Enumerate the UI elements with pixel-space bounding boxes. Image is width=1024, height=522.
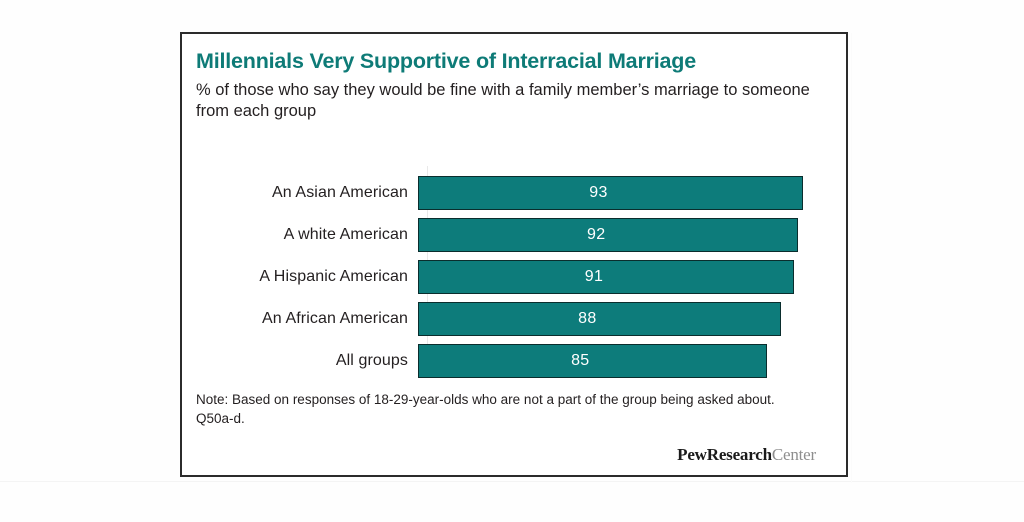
bar-row: A Hispanic American 91 — [196, 260, 832, 294]
bar-chart-plot-area: An Asian American 93 A white American 92… — [196, 166, 832, 361]
bar-track: 93 — [418, 176, 832, 210]
bar-value-label: 85 — [571, 352, 589, 370]
bar-category-label: A white American — [196, 226, 418, 244]
chart-note: Note: Based on responses of 18-29-year-o… — [196, 391, 810, 428]
bar-track: 92 — [418, 218, 832, 252]
bar-track: 91 — [418, 260, 832, 294]
page-edge-line-bottom — [0, 481, 1024, 482]
bar-a-white-american: 92 — [418, 218, 798, 252]
chart-inner-content: Millennials Very Supportive of Interraci… — [196, 50, 832, 465]
source-logo-row: PewResearchCenter — [677, 445, 816, 465]
chart-frame: Millennials Very Supportive of Interraci… — [180, 32, 848, 477]
bar-value-label: 91 — [585, 268, 603, 286]
bar-row: A white American 92 — [196, 218, 832, 252]
chart-title: Millennials Very Supportive of Interraci… — [196, 50, 832, 74]
bar-category-label: A Hispanic American — [196, 268, 418, 286]
bar-row: An Asian American 93 — [196, 176, 832, 210]
logo-bold-text: PewResearch — [677, 445, 772, 464]
bar-value-label: 88 — [578, 310, 596, 328]
bar-category-label: An African American — [196, 310, 418, 328]
logo-light-text: Center — [772, 445, 816, 464]
bar-category-label: All groups — [196, 352, 418, 370]
bar-all-groups: 85 — [418, 344, 767, 378]
bar-an-asian-american: 93 — [418, 176, 803, 210]
bar-row: All groups 85 — [196, 344, 832, 378]
bar-track: 85 — [418, 344, 832, 378]
bar-row: An African American 88 — [196, 302, 832, 336]
bar-category-label: An Asian American — [196, 184, 418, 202]
bar-track: 88 — [418, 302, 832, 336]
chart-subtitle: % of those who say they would be fine wi… — [196, 80, 816, 124]
pew-research-center-logo: PewResearchCenter — [677, 445, 816, 464]
bar-an-african-american: 88 — [418, 302, 781, 336]
bar-value-label: 93 — [589, 184, 607, 202]
page-edge-line-right — [851, 33, 852, 483]
bar-a-hispanic-american: 91 — [418, 260, 794, 294]
bar-value-label: 92 — [587, 226, 605, 244]
